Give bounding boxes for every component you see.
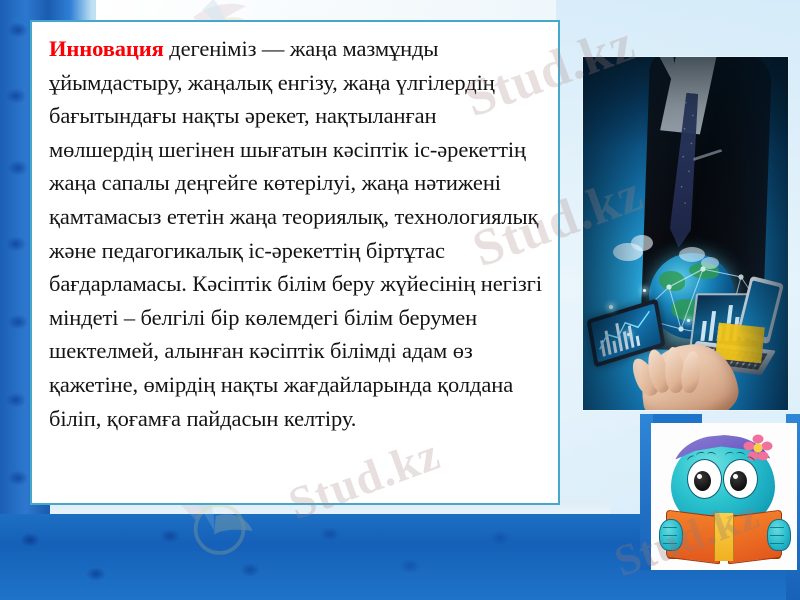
photo-vignette [583,57,788,410]
eyelash [725,451,735,458]
eyelash [707,452,717,459]
eye-highlight [733,474,738,479]
eyelash [736,451,746,458]
eye-highlight [697,474,702,479]
slide-canvas: Stud.kz – Stud.kz Инновация дегеніміз — … [0,0,800,600]
finger-crease [770,527,784,528]
finger-crease [770,535,784,536]
finger-crease [770,543,784,544]
businessman-technology-photo [583,57,788,410]
lead-term: Инновация [49,36,164,61]
